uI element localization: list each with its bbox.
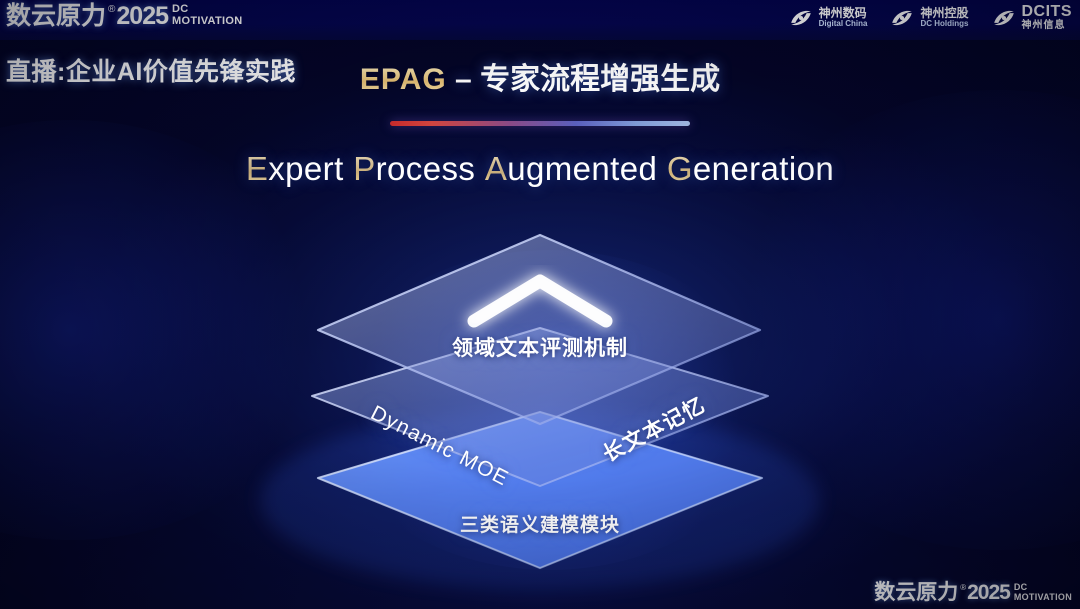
subtitle-rest-expert: xpert bbox=[268, 150, 343, 187]
brand-name-cn: 数云原力 bbox=[6, 1, 106, 31]
swirl-logo-icon bbox=[889, 5, 915, 31]
slide-canvas: 领域文本评测机制 Dynamic MOE 长文本记忆 三类语义建模模块 数云原力… bbox=[0, 0, 1080, 609]
partner-logo-dc-holdings: 神州控股 DC Holdings bbox=[889, 5, 968, 31]
watermark-suffix: DC MOTIVATION bbox=[1014, 583, 1072, 602]
partner-logo-dcits: DCITS 神州信息 bbox=[991, 4, 1073, 31]
partner-logo-group: 神州数码 Digital China 神州控股 DC Holdings bbox=[788, 4, 1072, 31]
stack-middle-layer-label-right: 长文本记忆 bbox=[597, 389, 710, 468]
subtitle-rest-process: rocess bbox=[376, 150, 476, 187]
subtitle-rest-augmented: ugmented bbox=[507, 150, 657, 187]
watermark-suffix-top: DC bbox=[1014, 583, 1072, 592]
brand-year: 2025 bbox=[116, 1, 168, 31]
brand-suffix-top: DC bbox=[172, 4, 242, 15]
title-divider bbox=[390, 121, 690, 126]
swirl-logo-icon bbox=[991, 5, 1017, 31]
subtitle-cap-g: G bbox=[667, 150, 693, 187]
watermark-suffix-bottom: MOTIVATION bbox=[1014, 593, 1072, 602]
slide-title-chinese: – 专家流程增强生成 bbox=[447, 63, 720, 96]
subtitle-cap-a: A bbox=[485, 150, 507, 187]
subtitle-cap-p: P bbox=[353, 150, 375, 187]
brand-suffix-bottom: MOTIVATION bbox=[172, 16, 242, 27]
partner-name-cn: 神州信息 bbox=[1022, 21, 1073, 32]
partner-name-cn: 神州数码 bbox=[819, 7, 868, 20]
stack-top-layer-label: 领域文本评测机制 bbox=[0, 332, 1080, 362]
footer-watermark: 数云原力 ® 2025 DC MOTIVATION bbox=[874, 580, 1072, 605]
brand-suffix: DC MOTIVATION bbox=[172, 4, 242, 27]
partner-name-cn: 神州控股 bbox=[920, 7, 968, 20]
stack-layer-bottom bbox=[318, 412, 762, 568]
stack-middle-layer-label-left: Dynamic MOE bbox=[367, 401, 513, 491]
swirl-logo-icon bbox=[788, 5, 814, 31]
stack-layer-middle bbox=[312, 328, 768, 486]
watermark-registered-mark: ® bbox=[960, 582, 966, 594]
subtitle-cap-e: E bbox=[246, 150, 268, 187]
subtitle-rest-generation: eneration bbox=[693, 150, 834, 187]
watermark-name-cn: 数云原力 bbox=[874, 580, 958, 605]
partner-name-en: DC Holdings bbox=[920, 20, 968, 28]
brand-registered-mark: ® bbox=[108, 3, 115, 17]
chevron-up-icon bbox=[474, 281, 606, 321]
slide-subtitle: Expert Process Augmented Generation bbox=[0, 150, 1080, 188]
brand-logo: 数云原力 ® 2025 DC MOTIVATION bbox=[6, 1, 242, 31]
partner-logo-digital-china: 神州数码 Digital China bbox=[788, 5, 868, 31]
slide-title: EPAG – 专家流程增强生成 bbox=[0, 54, 1080, 98]
stack-floor-glow bbox=[260, 410, 820, 590]
watermark-year: 2025 bbox=[967, 580, 1010, 605]
partner-name-en: Digital China bbox=[819, 20, 868, 28]
partner-name-en: DCITS bbox=[1022, 4, 1073, 21]
slide-title-acronym: EPAG bbox=[360, 63, 447, 96]
ambient-glow-center bbox=[330, 250, 770, 570]
stack-layer-top bbox=[318, 235, 760, 424]
stack-bottom-layer-label: 三类语义建模模块 bbox=[0, 510, 1080, 537]
